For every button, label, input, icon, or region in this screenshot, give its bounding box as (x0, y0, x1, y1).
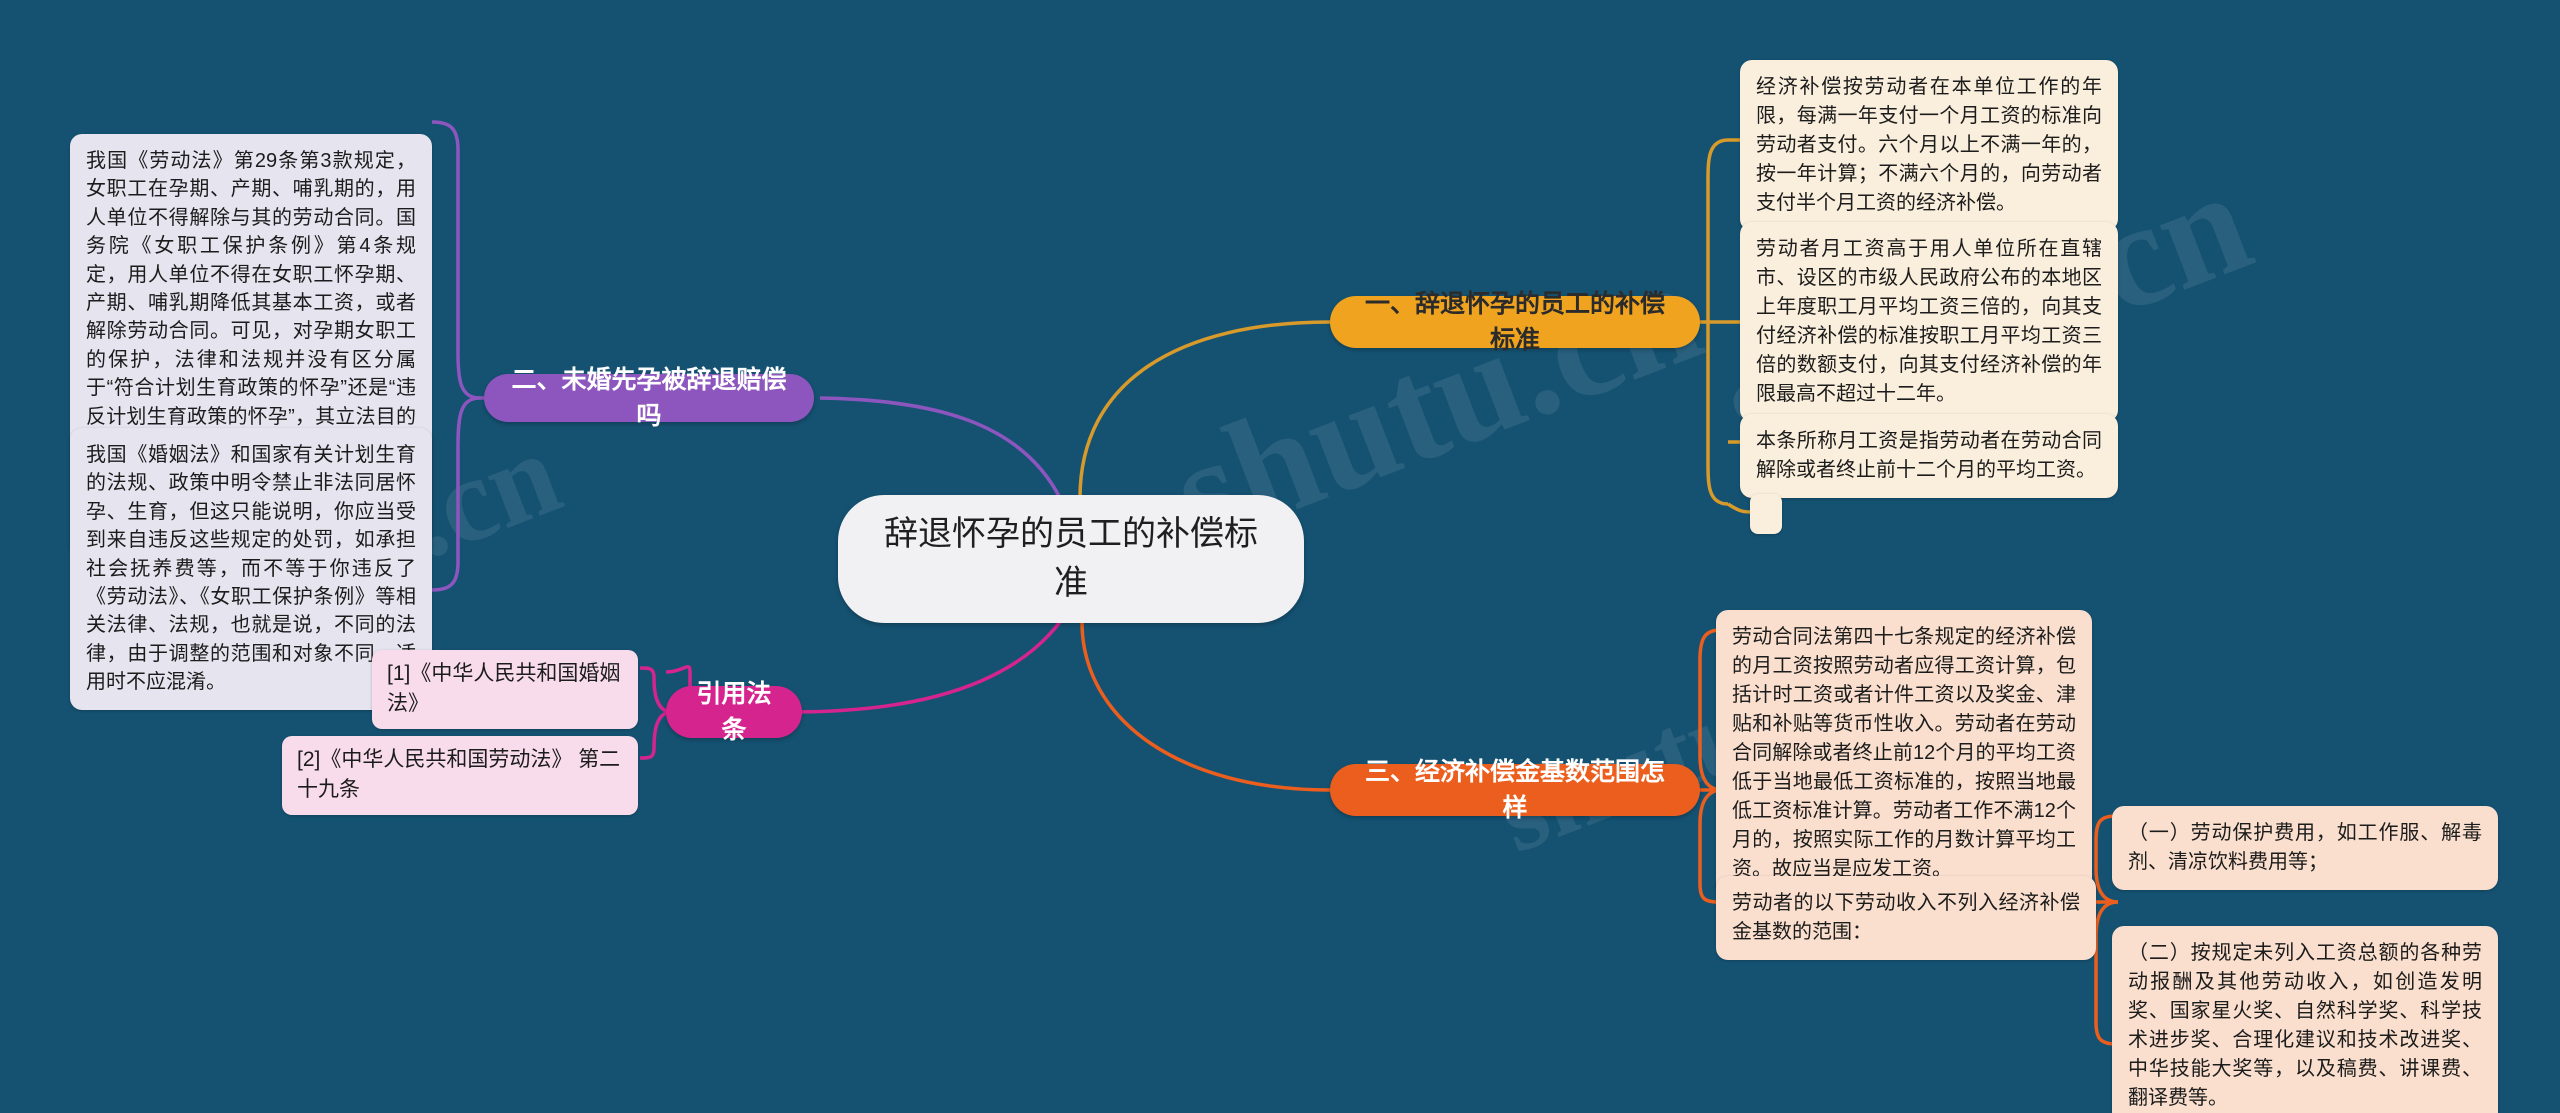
citation-card-1-text: [1]《中华人民共和国婚姻法》 (387, 662, 620, 715)
central-topic-label: 辞退怀孕的员工的补偿标准 (874, 510, 1268, 609)
leaf-card-three-b-1-text: （一）劳动保护费用，如工作服、解毒剂、清凉饮料费用等； (2128, 822, 2482, 873)
citation-card-2-text: [2]《中华人民共和国劳动法》 第二十九条 (297, 748, 620, 801)
leaf-card-one-c-text: 本条所称月工资是指劳动者在劳动合同解除或者终止前十二个月的平均工资。 (1756, 430, 2102, 481)
branch-node-citations-label: 引用法条 (692, 676, 776, 749)
branch-node-three[interactable]: 三、经济补偿金基数范围怎样 (1330, 764, 1700, 816)
leaf-card-three-b[interactable]: 劳动者的以下劳动收入不列入经济补偿金基数的范围： (1716, 876, 2096, 960)
leaf-card-three-b-1[interactable]: （一）劳动保护费用，如工作服、解毒剂、清凉饮料费用等； (2112, 806, 2498, 890)
leaf-card-two-b-text: 我国《婚姻法》和国家有关计划生育的法规、政策中明令禁止非法同居怀孕、生育，但这只… (86, 444, 416, 693)
branch-node-one[interactable]: 一、辞退怀孕的员工的补偿标准 (1330, 296, 1700, 348)
leaf-card-three-b-2[interactable]: （二）按规定未列入工资总额的各种劳动报酬及其他劳动收入，如创造发明奖、国家星火奖… (2112, 926, 2498, 1113)
leaf-card-one-b-text: 劳动者月工资高于用人单位所在直辖市、设区的市级人民政府公布的本地区上年度职工月平… (1756, 238, 2102, 405)
branch-node-one-label: 一、辞退怀孕的员工的补偿标准 (1356, 286, 1674, 359)
central-topic-node[interactable]: 辞退怀孕的员工的补偿标准 (838, 495, 1304, 623)
mindmap-canvas: shutu.cn shutu.cn shutu.cn shutu.cn (0, 0, 2560, 1113)
leaf-card-three-a[interactable]: 劳动合同法第四十七条规定的经济补偿的月工资按照劳动者应得工资计算，包括计时工资或… (1716, 610, 2092, 897)
citation-card-1[interactable]: [1]《中华人民共和国婚姻法》 (372, 650, 638, 729)
leaf-card-one-a[interactable]: 经济补偿按劳动者在本单位工作的年限，每满一年支付一个月工资的标准向劳动者支付。六… (1740, 60, 2118, 231)
citation-card-2[interactable]: [2]《中华人民共和国劳动法》 第二十九条 (282, 736, 638, 815)
collapsed-node-stub[interactable] (1750, 494, 1782, 534)
branch-node-citations[interactable]: 引用法条 (666, 686, 802, 738)
leaf-card-three-b-text: 劳动者的以下劳动收入不列入经济补偿金基数的范围： (1732, 892, 2080, 943)
leaf-card-one-b[interactable]: 劳动者月工资高于用人单位所在直辖市、设区的市级人民政府公布的本地区上年度职工月平… (1740, 222, 2118, 422)
leaf-card-three-b-2-text: （二）按规定未列入工资总额的各种劳动报酬及其他劳动收入，如创造发明奖、国家星火奖… (2128, 942, 2482, 1109)
leaf-card-three-a-text: 劳动合同法第四十七条规定的经济补偿的月工资按照劳动者应得工资计算，包括计时工资或… (1732, 626, 2076, 880)
leaf-card-one-a-text: 经济补偿按劳动者在本单位工作的年限，每满一年支付一个月工资的标准向劳动者支付。六… (1756, 76, 2102, 214)
branch-node-three-label: 三、经济补偿金基数范围怎样 (1356, 754, 1674, 827)
branch-node-two-label: 二、未婚先孕被辞退赔偿吗 (510, 362, 788, 435)
leaf-card-one-c[interactable]: 本条所称月工资是指劳动者在劳动合同解除或者终止前十二个月的平均工资。 (1740, 414, 2118, 498)
branch-node-two[interactable]: 二、未婚先孕被辞退赔偿吗 (484, 374, 814, 422)
